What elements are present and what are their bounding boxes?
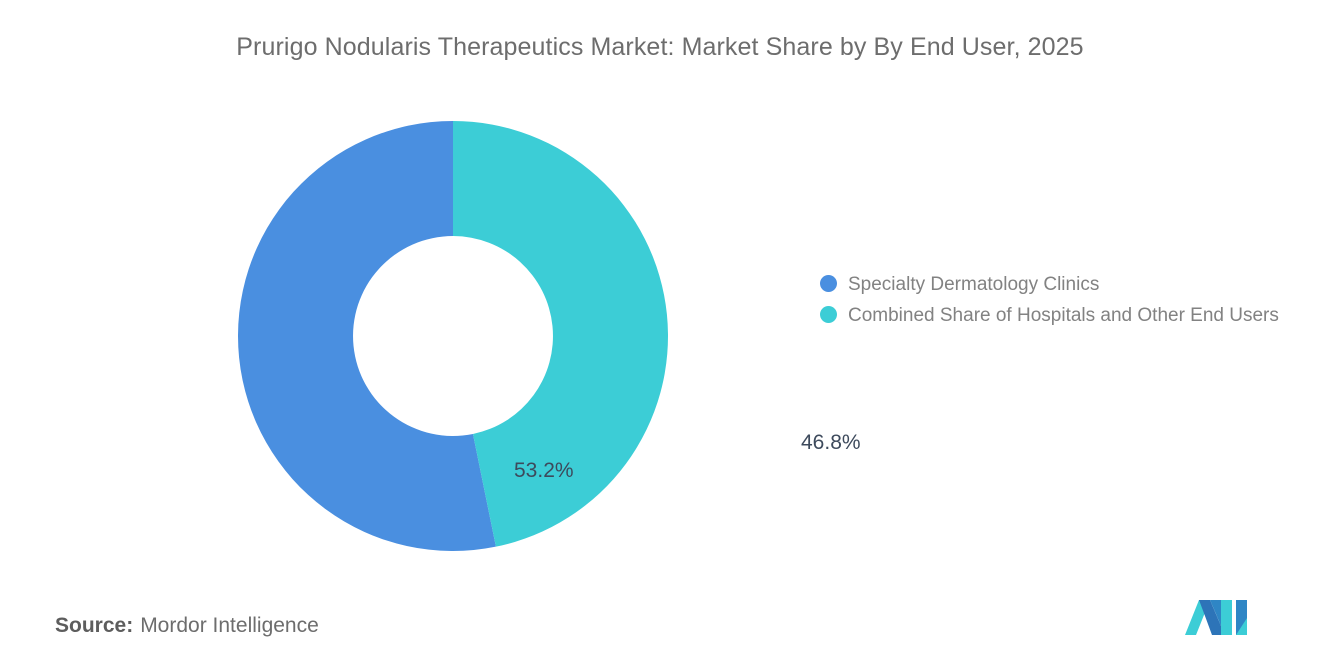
legend-item-specialty-dermatology-clinics[interactable]: Specialty Dermatology Clinics xyxy=(820,271,1300,299)
chart-title: Prurigo Nodularis Therapeutics Market: M… xyxy=(0,33,1320,62)
legend-color-swatch-icon xyxy=(820,275,837,292)
donut-chart-svg xyxy=(238,121,668,551)
source-attribution: Source:Mordor Intelligence xyxy=(55,614,319,638)
data-label-specialty-dermatology-clinics: 53.2% xyxy=(514,459,574,483)
source-name-label: Mordor Intelligence xyxy=(140,614,319,637)
chart-legend: Specialty Dermatology Clinics Combined S… xyxy=(820,271,1300,333)
legend-item-combined-hospitals-other-end-users[interactable]: Combined Share of Hospitals and Other En… xyxy=(820,302,1300,330)
data-label-combined-hospitals-other-end-users: 46.8% xyxy=(801,431,861,455)
legend-item-label: Combined Share of Hospitals and Other En… xyxy=(848,302,1279,330)
source-prefix-label: Source: xyxy=(55,614,133,637)
donut-chart: 53.2% 46.8% xyxy=(238,121,668,551)
legend-item-label: Specialty Dermatology Clinics xyxy=(848,271,1099,299)
mordor-intelligence-logo-icon xyxy=(1183,598,1257,636)
legend-color-swatch-icon xyxy=(820,306,837,323)
